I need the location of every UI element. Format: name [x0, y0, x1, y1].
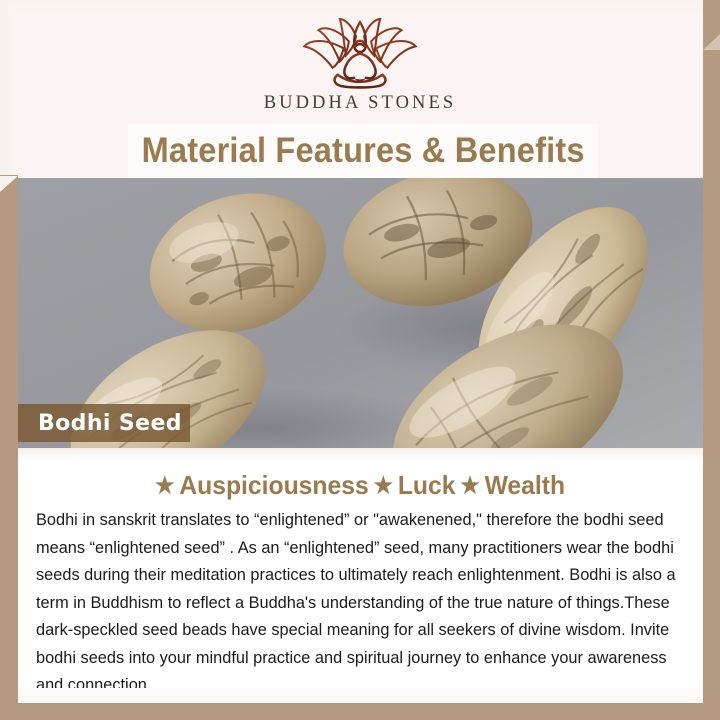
page-title: Material Features & Benefits [142, 131, 585, 171]
benefit-auspiciousness: Auspiciousness [176, 470, 371, 500]
benefit-luck: Luck [395, 470, 458, 500]
lotus-meditation-icon [284, 14, 436, 92]
panel-top-fade [18, 448, 703, 462]
benefits-headline: ★Auspiciousness★Luck★Wealth [35, 470, 686, 501]
frame-border-right [703, 0, 720, 720]
benefit-wealth: Wealth [482, 470, 568, 500]
panel-bottom-strip [18, 688, 703, 703]
star-icon-3: ★ [458, 472, 481, 498]
title-banner: Material Features & Benefits [128, 124, 598, 178]
photo-caption-text: Bodhi Seed [18, 411, 182, 436]
photo-caption-badge: Bodhi Seed [18, 404, 190, 442]
brand-logo: BUDDHA STONES [0, 14, 720, 122]
promo-card: BUDDHA STONES Material Features & Benefi… [0, 0, 720, 720]
brand-name: BUDDHA STONES [264, 93, 457, 114]
frame-border-left [0, 175, 18, 720]
description-paragraph: Bodhi in sanskrit translates to “enlight… [36, 506, 678, 699]
frame-border-bottom [0, 703, 720, 720]
star-icon-2: ★ [372, 472, 395, 498]
description-panel: ★Auspiciousness★Luck★Wealth Bodhi in san… [18, 448, 703, 703]
star-icon: ★ [153, 472, 176, 498]
